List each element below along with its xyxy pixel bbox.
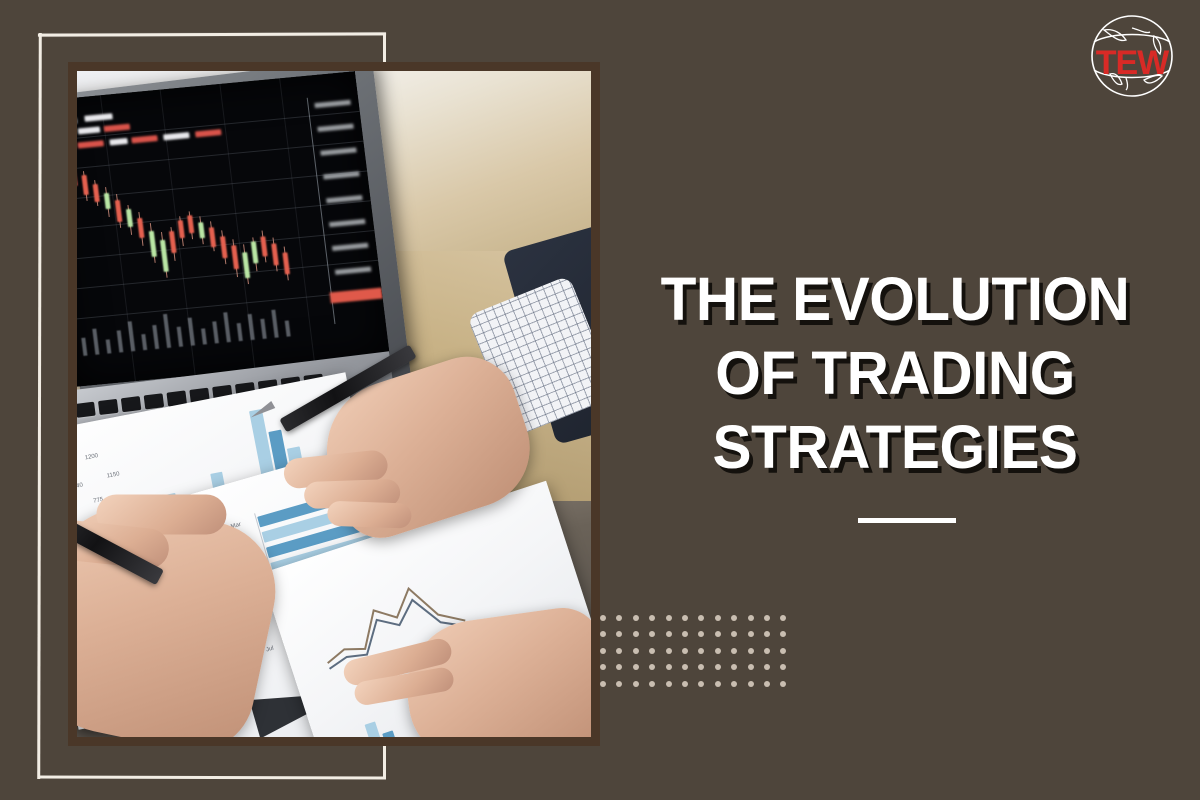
- dot: [666, 631, 672, 637]
- photo-image: 900 1200 2023 1140 1150 850 775 750 900 …: [77, 71, 591, 737]
- dot: [666, 648, 672, 654]
- dot: [666, 615, 672, 621]
- photo-frame: 900 1200 2023 1140 1150 850 775 750 900 …: [68, 62, 600, 746]
- dot: [698, 664, 704, 670]
- dot: [633, 681, 639, 687]
- dot: [600, 631, 606, 637]
- dot: [649, 681, 655, 687]
- dot: [764, 648, 770, 654]
- dot: [764, 631, 770, 637]
- title-line-2: OF TRADING: [641, 336, 1150, 410]
- dot: [616, 631, 622, 637]
- title-line-1: THE EVOLUTION: [641, 262, 1150, 336]
- title-line-3: STRATEGIES: [641, 410, 1150, 484]
- dot: [780, 648, 786, 654]
- dot: [715, 631, 721, 637]
- dot: [682, 631, 688, 637]
- frame-line-bottom: [38, 775, 386, 779]
- dot: [698, 615, 704, 621]
- dot: [682, 681, 688, 687]
- dot: [666, 681, 672, 687]
- dot: [600, 615, 606, 621]
- dot: [731, 681, 737, 687]
- dot: [698, 681, 704, 687]
- dot: [616, 664, 622, 670]
- dot: [600, 648, 606, 654]
- dot: [780, 615, 786, 621]
- dot: [698, 648, 704, 654]
- dot: [649, 615, 655, 621]
- dot: [616, 648, 622, 654]
- dot: [600, 664, 606, 670]
- dot: [715, 648, 721, 654]
- poster-canvas: 900 1200 2023 1140 1150 850 775 750 900 …: [0, 0, 1200, 800]
- dot: [682, 615, 688, 621]
- dot: [666, 664, 672, 670]
- dot: [715, 681, 721, 687]
- dot: [731, 648, 737, 654]
- photo-laptop-screen: [77, 71, 390, 387]
- dot: [731, 615, 737, 621]
- tew-logo-text: TEW: [1080, 46, 1184, 80]
- dot: [715, 615, 721, 621]
- dot: [633, 648, 639, 654]
- dot: [780, 664, 786, 670]
- dot: [764, 615, 770, 621]
- dot: [616, 615, 622, 621]
- page-title: THE EVOLUTION OF TRADING STRATEGIES: [630, 262, 1160, 484]
- dot: [649, 664, 655, 670]
- dot: [682, 664, 688, 670]
- dot: [748, 648, 754, 654]
- dot: [649, 648, 655, 654]
- dot: [698, 631, 704, 637]
- dot: [748, 615, 754, 621]
- dot: [633, 631, 639, 637]
- dot: [715, 664, 721, 670]
- dot: [764, 664, 770, 670]
- dot: [764, 681, 770, 687]
- title-underline-rule: [858, 518, 956, 523]
- tew-logo[interactable]: TEW: [1080, 8, 1184, 104]
- dot: [616, 681, 622, 687]
- dot: [633, 615, 639, 621]
- dot: [731, 631, 737, 637]
- dot: [748, 681, 754, 687]
- dot: [682, 648, 688, 654]
- dot: [731, 664, 737, 670]
- dot: [649, 631, 655, 637]
- dot-grid-decoration: [600, 615, 797, 697]
- frame-line-left: [37, 33, 42, 779]
- dot: [633, 664, 639, 670]
- dot: [748, 664, 754, 670]
- dot: [748, 631, 754, 637]
- dot: [780, 681, 786, 687]
- dot: [600, 681, 606, 687]
- dot: [780, 631, 786, 637]
- frame-line-top: [38, 32, 386, 36]
